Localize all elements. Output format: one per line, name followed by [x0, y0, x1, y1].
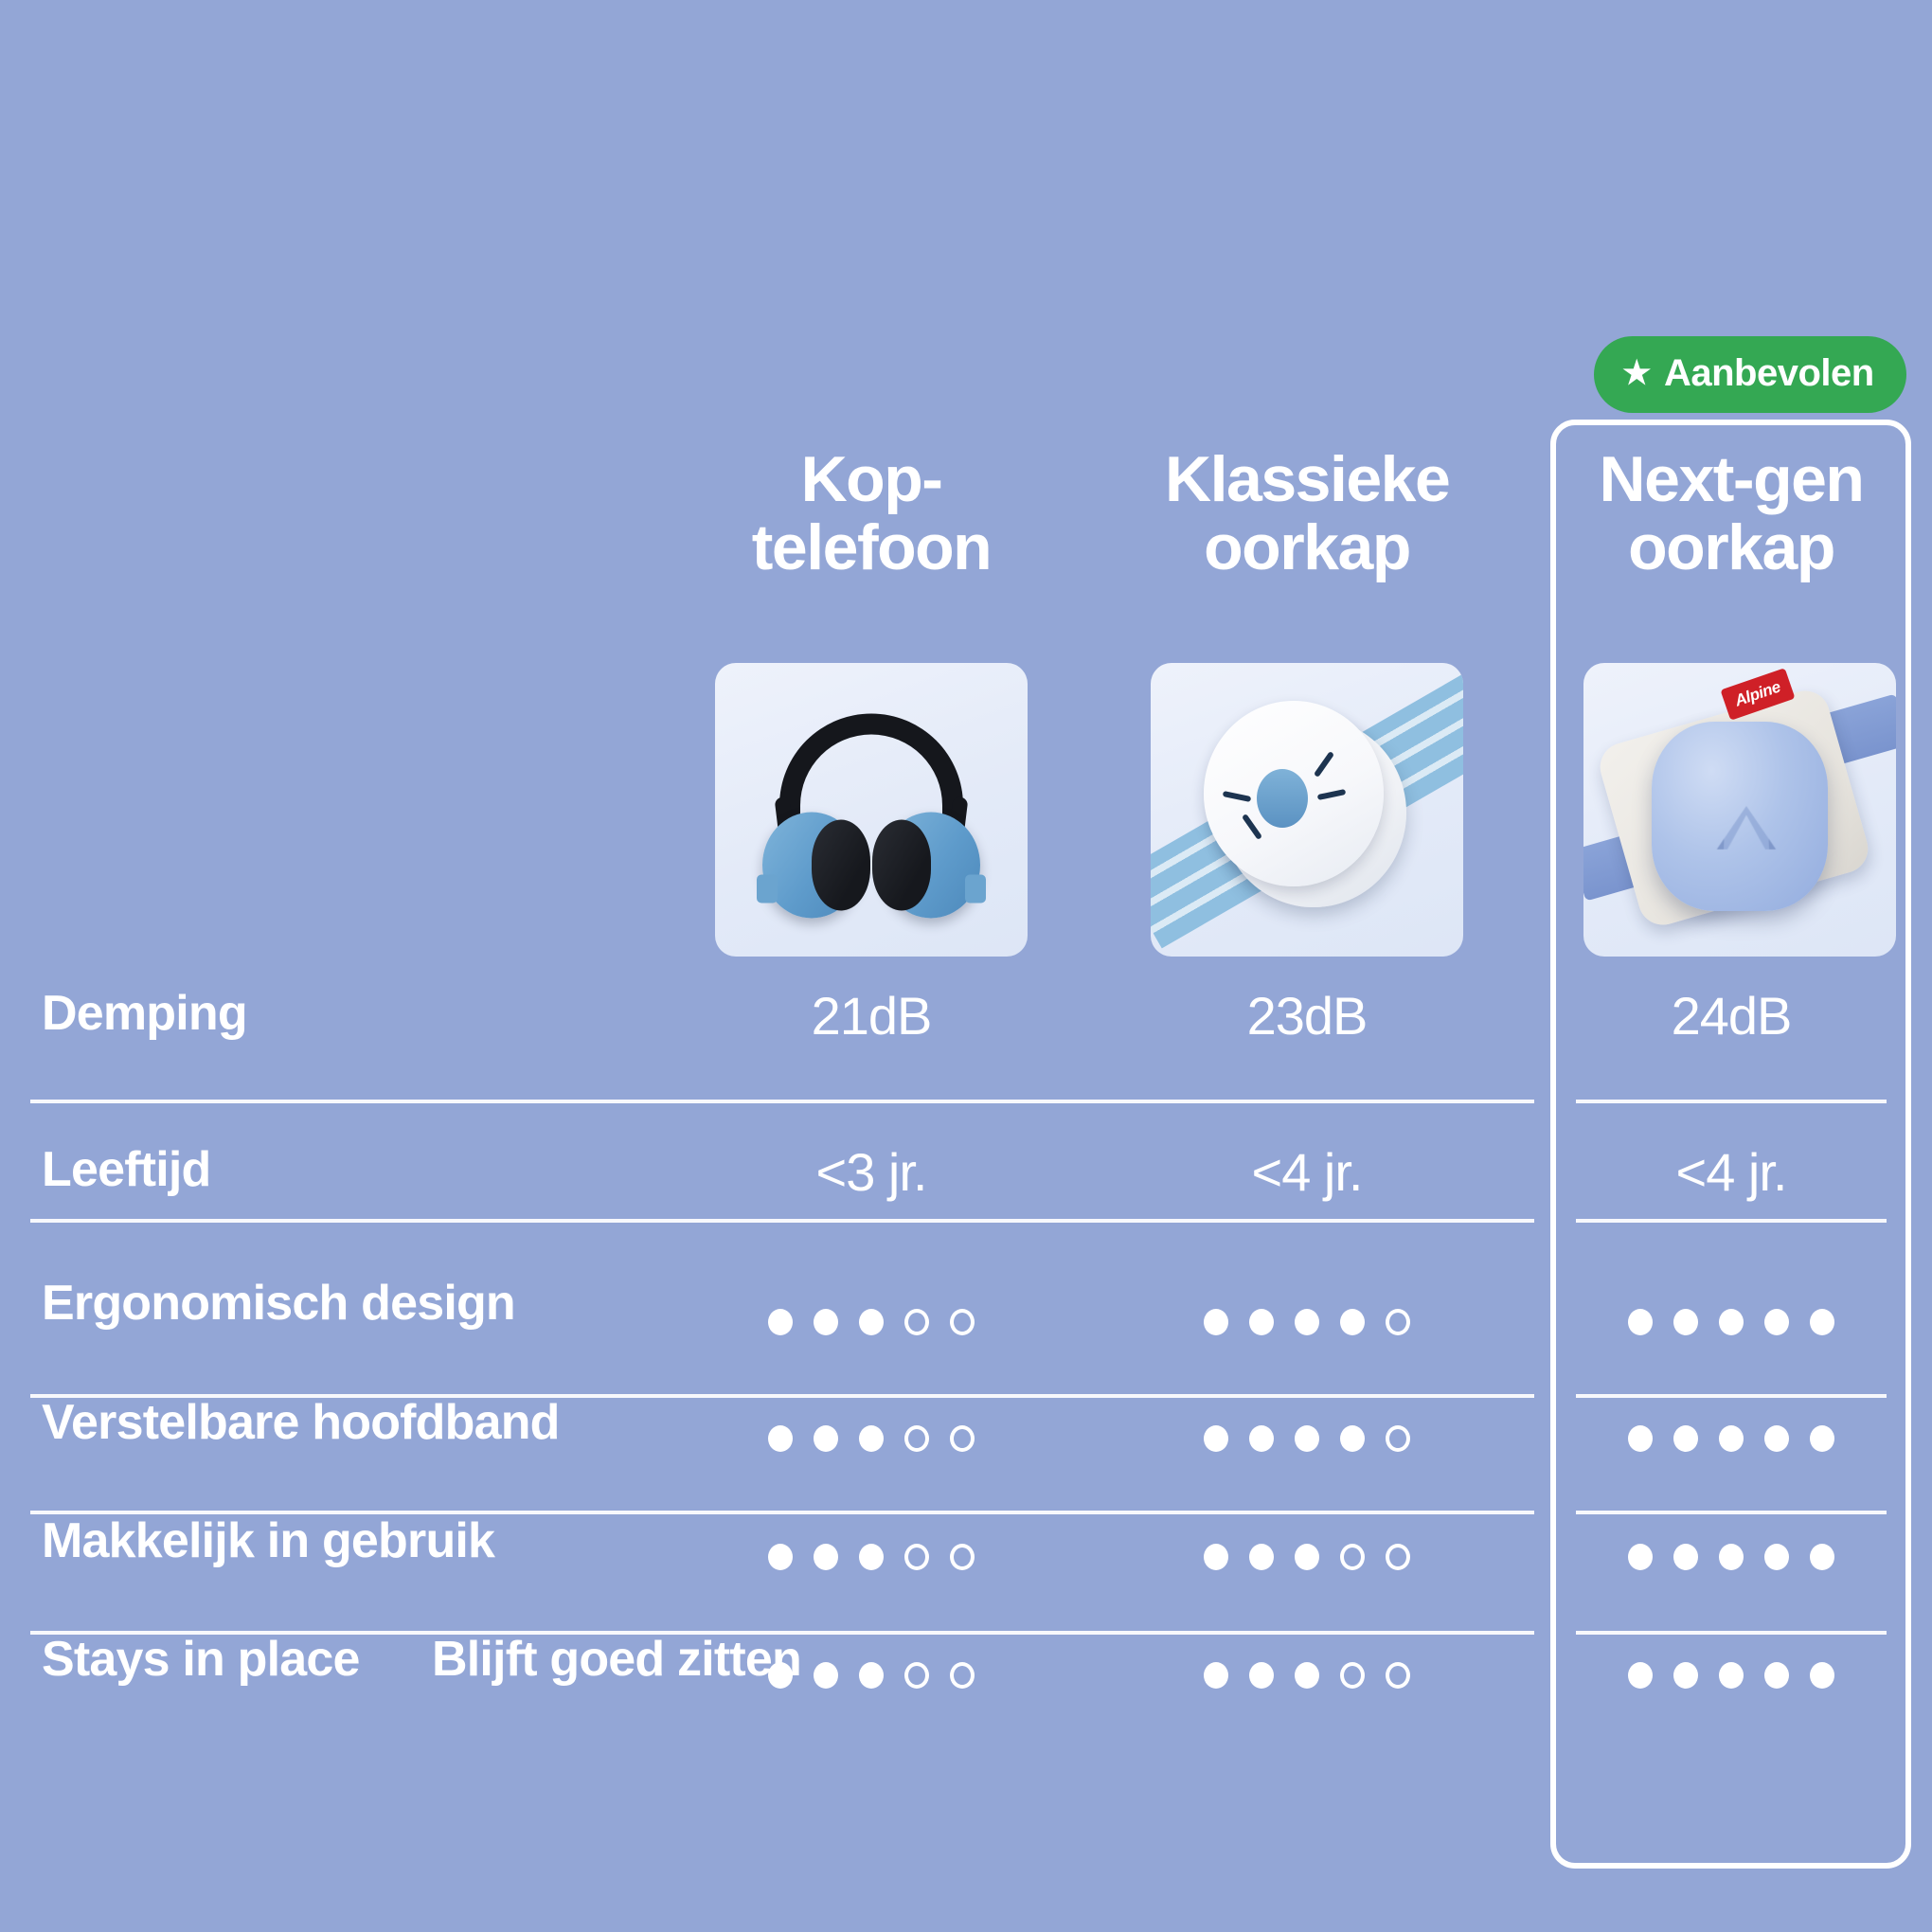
column-header-klassieke-oorkap: Klassieke oorkap [1165, 445, 1449, 581]
rating-dot-filled [1719, 1662, 1744, 1689]
rating-dot-filled [1810, 1662, 1834, 1689]
rating-dot-filled [1764, 1309, 1789, 1335]
rating-dot-filled [1673, 1425, 1698, 1452]
rating-dot-empty [904, 1309, 929, 1335]
column-header-line2: oorkap [1165, 513, 1449, 581]
rating-dot-empty [1386, 1662, 1410, 1689]
rating-dot-filled [1628, 1425, 1653, 1452]
rating-ergonomisch-koptelefoon [729, 1309, 1013, 1335]
rating-dot-filled [768, 1662, 793, 1689]
rating-gebruik-klassieke [1165, 1544, 1449, 1570]
cell-leeftijd-klassieke: <4 jr. [1165, 1141, 1449, 1203]
rating-dot-filled [1719, 1544, 1744, 1570]
rating-dot-filled [1295, 1544, 1319, 1570]
row-separator [30, 1100, 1534, 1103]
rating-dot-filled [1764, 1544, 1789, 1570]
rating-dot-filled [768, 1309, 793, 1335]
rating-dot-filled [814, 1662, 838, 1689]
row-label-leeftijd: Leeftijd [42, 1141, 211, 1198]
rating-zitten-klassieke [1165, 1662, 1449, 1689]
column-header-line1: Klassieke [1165, 445, 1449, 513]
rating-dot-filled [1719, 1309, 1744, 1335]
comparison-table: ★ Aanbevolen Kop- telefoon Klassieke oor… [0, 0, 1932, 1932]
rating-zitten-koptelefoon [729, 1662, 1013, 1689]
row-separator [1576, 1631, 1887, 1635]
classic-earmuff-icon [1151, 663, 1463, 957]
rating-dot-filled [1249, 1662, 1274, 1689]
cell-demping-koptelefoon: 21dB [729, 985, 1013, 1046]
rating-dot-filled [768, 1544, 793, 1570]
rating-dot-filled [1295, 1662, 1319, 1689]
cell-leeftijd-next-gen: <4 jr. [1589, 1141, 1873, 1203]
row-label-demping: Demping [42, 985, 247, 1042]
rating-dot-empty [950, 1544, 975, 1570]
row-separator [1576, 1100, 1887, 1103]
cell-demping-klassieke: 23dB [1165, 985, 1449, 1046]
row-separator [1576, 1394, 1887, 1398]
rating-hoofdband-next-gen [1589, 1425, 1873, 1452]
rating-dot-filled [1249, 1544, 1274, 1570]
rating-gebruik-next-gen [1589, 1544, 1873, 1570]
rating-dot-empty [1386, 1309, 1410, 1335]
rating-dot-filled [1204, 1544, 1228, 1570]
rating-dot-filled [1340, 1309, 1365, 1335]
row-label-overlay-english: Stays in place [42, 1631, 360, 1688]
rating-dot-empty [904, 1425, 929, 1452]
rating-ergonomisch-next-gen [1589, 1309, 1873, 1335]
rating-dot-empty [1386, 1425, 1410, 1452]
rating-dot-filled [859, 1662, 884, 1689]
rating-dot-filled [1628, 1662, 1653, 1689]
rating-dot-empty [904, 1544, 929, 1570]
star-icon: ★ [1622, 357, 1651, 389]
rating-dot-filled [1295, 1309, 1319, 1335]
rating-gebruik-koptelefoon [729, 1544, 1013, 1570]
kids-headphones-icon [762, 714, 980, 918]
rating-dot-filled [1673, 1309, 1698, 1335]
rating-hoofdband-klassieke [1165, 1425, 1449, 1452]
column-header-line2: telefoon [729, 513, 1013, 581]
row-label-ergonomisch-design: Ergonomisch design [42, 1275, 515, 1332]
product-image-koptelefoon [715, 663, 1028, 957]
rating-dot-empty [950, 1662, 975, 1689]
rating-zitten-next-gen [1589, 1662, 1873, 1689]
row-separator [1576, 1511, 1887, 1514]
rating-dot-filled [814, 1544, 838, 1570]
rating-dot-filled [1204, 1425, 1228, 1452]
rating-dot-filled [1673, 1544, 1698, 1570]
rating-dot-filled [859, 1309, 884, 1335]
rating-dot-empty [1386, 1544, 1410, 1570]
column-header-koptelefoon: Kop- telefoon [729, 445, 1013, 581]
rating-dot-filled [1810, 1544, 1834, 1570]
rating-dot-filled [1764, 1425, 1789, 1452]
rating-dot-filled [1810, 1309, 1834, 1335]
rating-dot-filled [1249, 1425, 1274, 1452]
row-label-makkelijk-in-gebruik: Makkelijk in gebruik [42, 1512, 494, 1569]
rating-dot-empty [1340, 1544, 1365, 1570]
recommended-badge: ★ Aanbevolen [1594, 336, 1906, 413]
rating-dot-filled [1719, 1425, 1744, 1452]
rating-dot-filled [1295, 1425, 1319, 1452]
rating-dot-empty [950, 1425, 975, 1452]
rating-dot-filled [1204, 1662, 1228, 1689]
rating-dot-filled [1249, 1309, 1274, 1335]
rating-dot-filled [859, 1425, 884, 1452]
cell-demping-next-gen: 24dB [1589, 985, 1873, 1046]
column-header-line1: Kop- [729, 445, 1013, 513]
rating-dot-filled [1628, 1544, 1653, 1570]
rating-dot-filled [814, 1309, 838, 1335]
rating-dot-filled [859, 1544, 884, 1570]
product-image-next-gen-oorkap: Alpine [1583, 663, 1896, 957]
recommended-badge-label: Aanbevolen [1664, 352, 1874, 395]
row-separator [30, 1219, 1534, 1223]
column-header-line2: oorkap [1589, 513, 1873, 581]
rating-dot-filled [1810, 1425, 1834, 1452]
rating-dot-filled [1673, 1662, 1698, 1689]
rating-dot-filled [1628, 1309, 1653, 1335]
rating-dot-filled [1340, 1425, 1365, 1452]
cell-leeftijd-koptelefoon: <3 jr. [729, 1141, 1013, 1203]
rating-dot-empty [950, 1309, 975, 1335]
rating-dot-filled [768, 1425, 793, 1452]
rating-dot-filled [1204, 1309, 1228, 1335]
rating-dot-filled [1764, 1662, 1789, 1689]
row-label-verstelbare-hoofdband: Verstelbare hoofdband [42, 1394, 560, 1451]
next-gen-earmuff-icon: Alpine [1583, 663, 1896, 957]
rating-ergonomisch-klassieke [1165, 1309, 1449, 1335]
rating-dot-empty [1340, 1662, 1365, 1689]
rating-dot-empty [904, 1662, 929, 1689]
row-separator [1576, 1219, 1887, 1223]
column-header-next-gen-oorkap: Next-gen oorkap [1589, 445, 1873, 581]
rating-hoofdband-koptelefoon [729, 1425, 1013, 1452]
column-header-line1: Next-gen [1589, 445, 1873, 513]
rating-dot-filled [814, 1425, 838, 1452]
product-image-klassieke-oorkap [1151, 663, 1463, 957]
